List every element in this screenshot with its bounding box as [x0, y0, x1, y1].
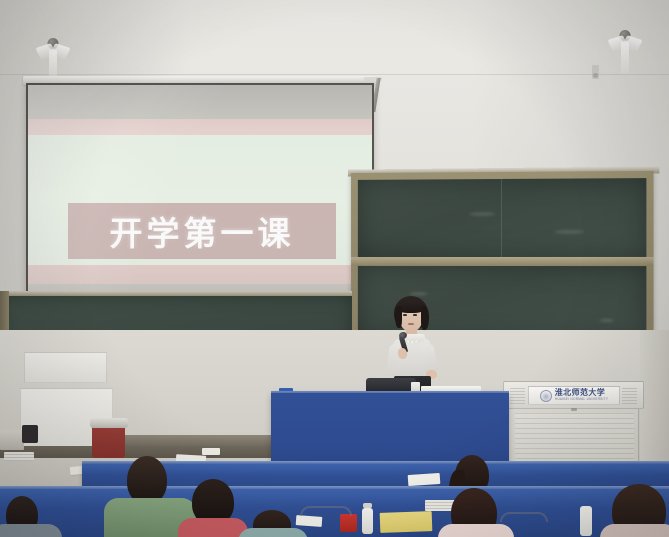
lecture-hall-photo: 开学第一课 主讲人：黄洁 2022年9月5日	[0, 0, 669, 537]
projected-slide: 开学第一课 主讲人：黄洁 2022年9月5日	[28, 85, 372, 311]
ceiling-seam	[0, 74, 669, 75]
presenter-hair-right	[421, 306, 429, 330]
student-shoulders	[600, 524, 669, 537]
red-can	[340, 514, 357, 532]
wall-outlet	[592, 65, 599, 79]
trash-bin	[92, 426, 125, 458]
projection-screen: 开学第一课 主讲人：黄洁 2022年9月5日	[26, 83, 374, 314]
chalk-smudge	[554, 230, 584, 234]
slide-band-top	[28, 119, 372, 135]
chalk-smudge	[600, 318, 614, 322]
chair-back	[500, 512, 548, 522]
presenter-necklace	[405, 336, 419, 343]
fixture-stem	[621, 42, 629, 74]
presenter-hair-left	[395, 306, 402, 328]
presenter-mouth	[408, 323, 414, 325]
slide-title-plate: 开学第一课	[68, 203, 336, 259]
blackboard-panel-upper	[358, 178, 647, 257]
water-bottle-cap	[363, 503, 372, 508]
second-row-paper	[408, 473, 441, 486]
dark-object	[22, 425, 38, 443]
student-shoulders	[178, 518, 248, 537]
trash-bin-lid	[90, 418, 128, 428]
water-bottle	[362, 508, 373, 534]
blackboard-middle-rail	[351, 257, 654, 266]
stacked-materials	[4, 452, 34, 461]
presenter-eye-left	[403, 314, 407, 316]
student-shoulders	[438, 524, 514, 537]
university-name-en: HUAIBEI NORMAL UNIVERSITY	[555, 398, 608, 401]
chair-back	[300, 506, 352, 516]
yellow-notepad	[380, 511, 433, 533]
front-row-paper	[296, 515, 323, 527]
student-shoulders	[238, 528, 308, 537]
lectern-vent-left	[510, 388, 525, 405]
university-plaque: 淮北师范大学 HUAIBEI NORMAL UNIVERSITY	[528, 386, 620, 405]
lectern-knob	[571, 408, 577, 411]
wall-speaker-right-icon	[614, 30, 636, 78]
slide-top-margin	[28, 85, 372, 119]
university-name-cn: 淮北师范大学	[555, 389, 608, 397]
lectern-vent-right	[622, 388, 637, 405]
slide-body: 开学第一课 主讲人：黄洁 2022年9月5日	[28, 135, 372, 265]
student-shoulders	[0, 524, 62, 537]
university-crest-icon	[540, 390, 552, 402]
slide-title: 开学第一课	[110, 207, 295, 255]
university-name-block: 淮北师范大学 HUAIBEI NORMAL UNIVERSITY	[555, 389, 608, 401]
floor-paper	[202, 448, 220, 455]
wall-panel-upper	[24, 352, 107, 383]
presenter-eye-right	[413, 314, 417, 316]
water-bottle	[580, 506, 592, 536]
floor-clutter	[0, 430, 24, 450]
blackboard-seam	[501, 179, 502, 257]
lectern-header: 淮北师范大学 HUAIBEI NORMAL UNIVERSITY	[503, 381, 644, 409]
slide-band-bottom	[28, 265, 372, 284]
student-head	[127, 456, 167, 504]
